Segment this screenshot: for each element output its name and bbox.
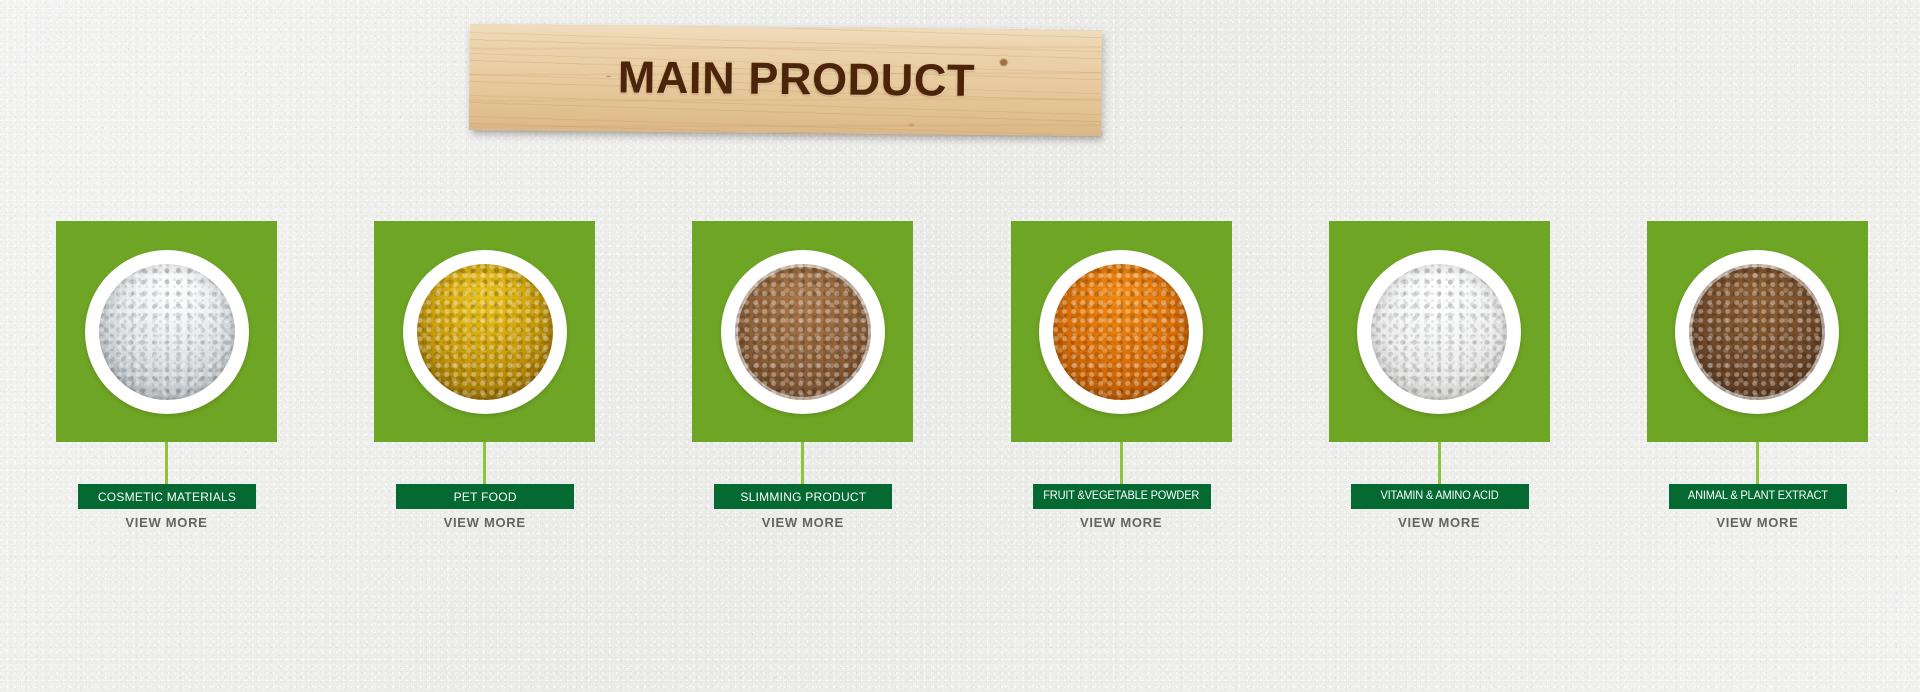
connector-line <box>1756 442 1759 485</box>
view-more-link[interactable]: VIEW MORE <box>374 515 595 530</box>
connector-line <box>801 442 804 485</box>
product-photo <box>99 264 235 400</box>
page-title: MAIN PRODUCT <box>469 24 1102 134</box>
product-photo <box>1689 264 1825 400</box>
product-photo <box>1053 264 1189 400</box>
product-image-ring <box>1675 250 1839 414</box>
product-card[interactable]: COSMETIC MATERIALSVIEW MORE <box>56 221 277 541</box>
product-card[interactable]: FRUIT &VEGETABLE POWDERVIEW MORE <box>1011 221 1232 541</box>
product-image-tile[interactable] <box>374 221 595 442</box>
view-more-link[interactable]: VIEW MORE <box>56 515 277 530</box>
main-product-banner: MAIN PRODUCT <box>470 24 1102 140</box>
product-card[interactable]: VITAMIN & AMINO ACIDVIEW MORE <box>1329 221 1550 541</box>
connector-line <box>1120 442 1123 485</box>
product-image-ring <box>85 250 249 414</box>
connector-line <box>165 442 168 485</box>
product-category-label-text: SLIMMING PRODUCT <box>740 491 866 503</box>
product-image-tile[interactable] <box>1647 221 1868 442</box>
product-category-label[interactable]: COSMETIC MATERIALS <box>78 484 256 509</box>
product-category-label[interactable]: SLIMMING PRODUCT <box>714 484 892 509</box>
connector-line <box>483 442 486 485</box>
product-category-label[interactable]: PET FOOD <box>396 484 574 509</box>
product-category-label-text: PET FOOD <box>454 491 517 503</box>
product-image-tile[interactable] <box>692 221 913 442</box>
product-category-label-text: ANIMAL & PLANT EXTRACT <box>1688 491 1828 503</box>
view-more-link[interactable]: VIEW MORE <box>1647 515 1868 530</box>
connector-line <box>1438 442 1441 485</box>
product-photo <box>417 264 553 400</box>
product-grid: COSMETIC MATERIALSVIEW MOREPET FOODVIEW … <box>56 221 1868 541</box>
product-category-label[interactable]: FRUIT &VEGETABLE POWDER <box>1033 484 1211 509</box>
product-image-ring <box>721 250 885 414</box>
product-image-ring <box>403 250 567 414</box>
product-image-tile[interactable] <box>1011 221 1232 442</box>
product-photo <box>1371 264 1507 400</box>
product-card[interactable]: SLIMMING PRODUCTVIEW MORE <box>692 221 913 541</box>
product-image-tile[interactable] <box>1329 221 1550 442</box>
product-card[interactable]: ANIMAL & PLANT EXTRACTVIEW MORE <box>1647 221 1868 541</box>
product-image-ring <box>1357 250 1521 414</box>
product-category-label[interactable]: VITAMIN & AMINO ACID <box>1351 484 1529 509</box>
product-image-ring <box>1039 250 1203 414</box>
product-category-label[interactable]: ANIMAL & PLANT EXTRACT <box>1669 484 1847 509</box>
product-photo <box>735 264 871 400</box>
view-more-link[interactable]: VIEW MORE <box>1011 515 1232 530</box>
view-more-link[interactable]: VIEW MORE <box>692 515 913 530</box>
product-category-label-text: FRUIT &VEGETABLE POWDER <box>1044 491 1200 503</box>
product-category-label-text: COSMETIC MATERIALS <box>98 491 236 503</box>
product-card[interactable]: PET FOODVIEW MORE <box>374 221 595 541</box>
product-image-tile[interactable] <box>56 221 277 442</box>
product-category-label-text: VITAMIN & AMINO ACID <box>1381 491 1499 503</box>
view-more-link[interactable]: VIEW MORE <box>1329 515 1550 530</box>
